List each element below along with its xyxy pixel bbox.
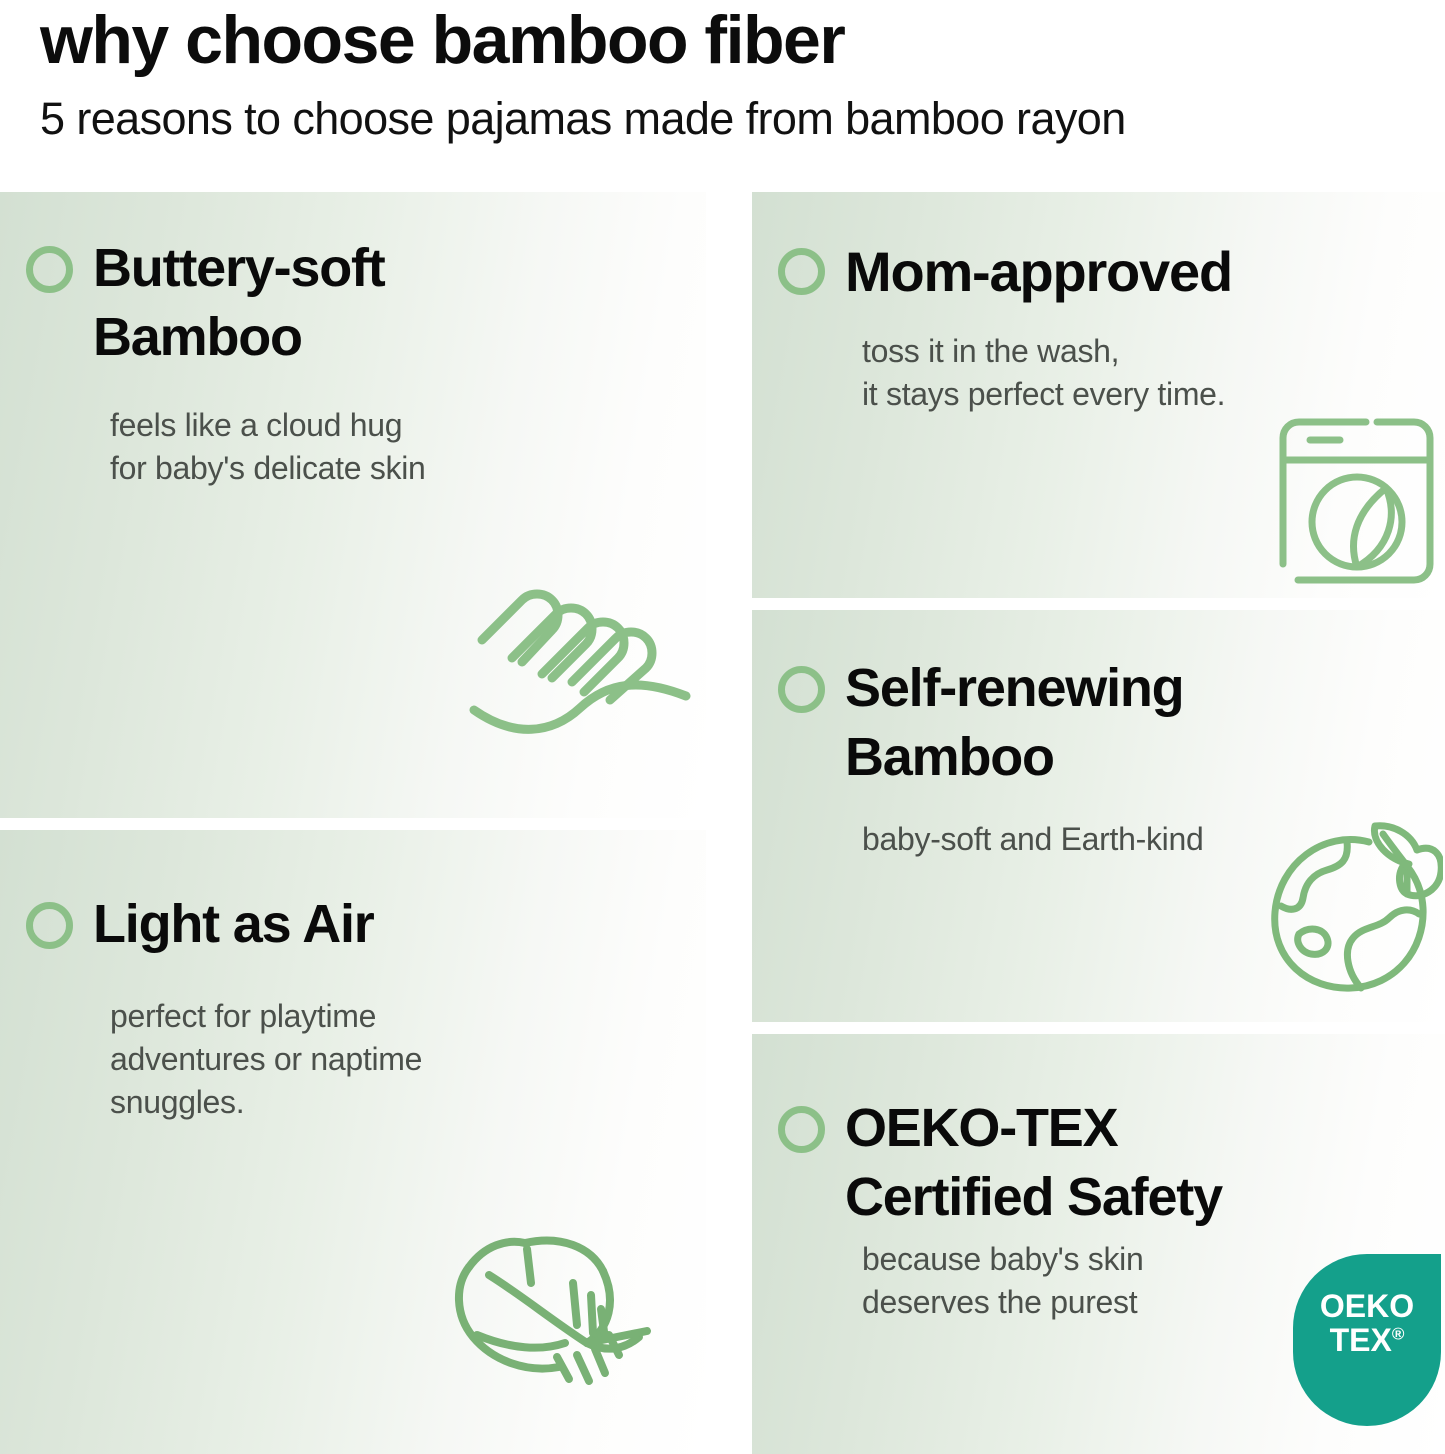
oeko-tex-badge-text: OEKO TEX®: [1293, 1290, 1441, 1357]
earth-with-leaves-icon: [1261, 814, 1443, 994]
circle-outline-icon: [778, 1106, 825, 1153]
card-inner: OEKO-TEX Certified Safety because baby's…: [752, 1034, 1445, 1454]
card-inner: Mom-approved toss it in the wash, it sta…: [752, 192, 1445, 598]
card-inner: Buttery-soft Bamboo feels like a cloud h…: [0, 192, 706, 818]
feature-card-self-renewing-bamboo[interactable]: Self-renewing Bamboo baby-soft and Earth…: [752, 610, 1445, 1022]
card-header: Buttery-soft Bamboo: [26, 234, 385, 372]
card-body-text: because baby's skin deserves the purest: [862, 1238, 1143, 1324]
card-title: Mom-approved: [845, 236, 1232, 308]
card-body-text: feels like a cloud hug for baby's delica…: [110, 404, 426, 490]
hand-touch-fabric-icon: [460, 578, 700, 758]
card-header: OEKO-TEX Certified Safety: [778, 1094, 1222, 1232]
feature-card-oeko-tex-certified-safety[interactable]: OEKO-TEX Certified Safety because baby's…: [752, 1034, 1445, 1454]
feature-card-mom-approved[interactable]: Mom-approved toss it in the wash, it sta…: [752, 192, 1445, 598]
card-header: Self-renewing Bamboo: [778, 654, 1183, 792]
washing-machine-icon: [1274, 412, 1439, 592]
oeko-tex-line-1: OEKO: [1293, 1290, 1441, 1324]
feature-card-grid: Buttery-soft Bamboo feels like a cloud h…: [0, 0, 1445, 1454]
card-body-text: baby-soft and Earth-kind: [862, 818, 1203, 861]
circle-outline-icon: [778, 666, 825, 713]
card-title: Light as Air: [93, 890, 374, 959]
card-inner: Light as Air perfect for playtime advent…: [0, 830, 706, 1454]
card-header: Mom-approved: [778, 236, 1232, 308]
feather-icon: [441, 1209, 706, 1444]
circle-outline-icon: [778, 248, 825, 295]
feature-card-buttery-soft-bamboo[interactable]: Buttery-soft Bamboo feels like a cloud h…: [0, 192, 706, 818]
circle-outline-icon: [26, 902, 73, 949]
card-inner: Self-renewing Bamboo baby-soft and Earth…: [752, 610, 1445, 1022]
card-title: OEKO-TEX Certified Safety: [845, 1094, 1222, 1232]
card-body-text: toss it in the wash, it stays perfect ev…: [862, 330, 1225, 416]
oeko-tex-line-2: TEX®: [1293, 1324, 1441, 1358]
card-title: Buttery-soft Bamboo: [93, 234, 385, 372]
feature-card-light-as-air[interactable]: Light as Air perfect for playtime advent…: [0, 830, 706, 1454]
card-header: Light as Air: [26, 890, 374, 959]
circle-outline-icon: [26, 246, 73, 293]
card-title: Self-renewing Bamboo: [845, 654, 1183, 792]
oeko-tex-line-2-text: TEX: [1330, 1322, 1392, 1358]
registered-mark: ®: [1392, 1324, 1405, 1343]
oeko-tex-badge: OEKO TEX®: [1293, 1254, 1441, 1454]
card-body-text: perfect for playtime adventures or napti…: [110, 995, 422, 1124]
